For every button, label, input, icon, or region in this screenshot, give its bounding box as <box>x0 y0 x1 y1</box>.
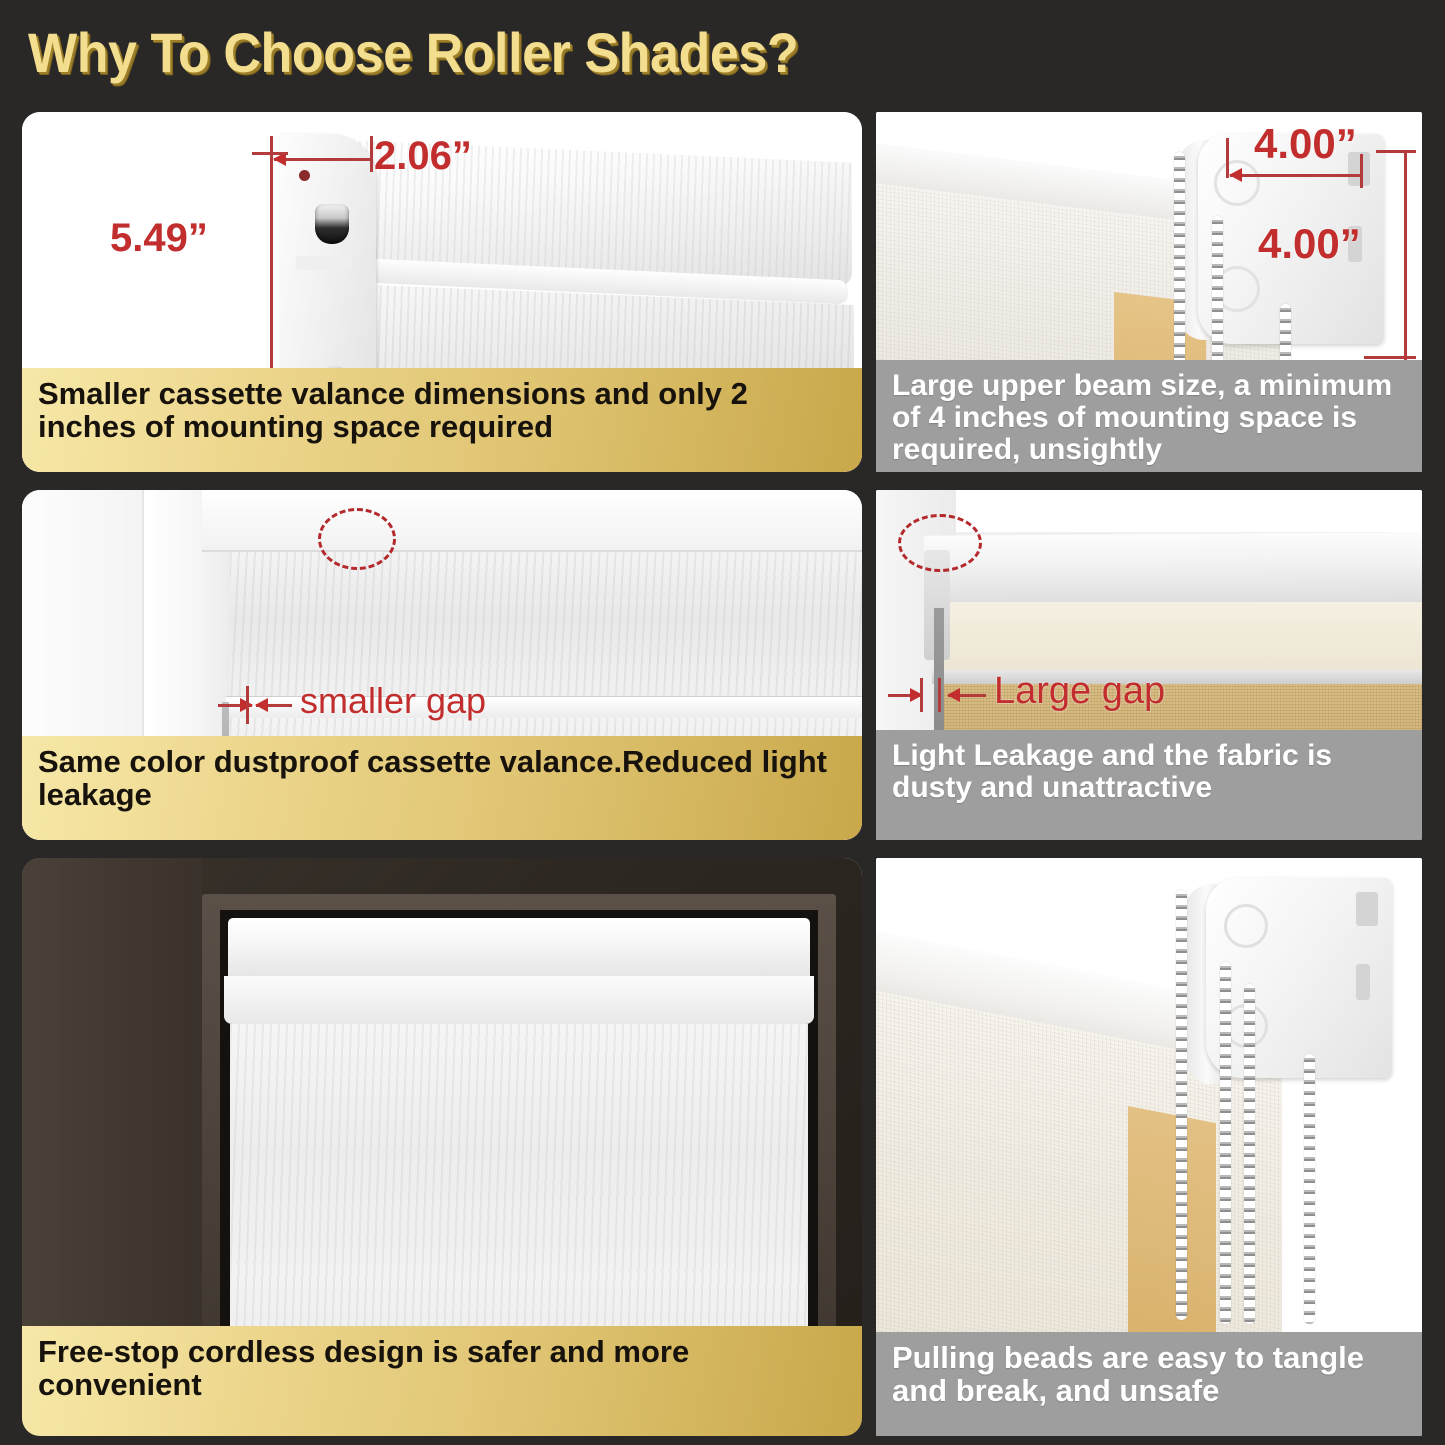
dim-cap-top <box>252 152 288 155</box>
dim-line-width <box>274 158 370 161</box>
roller-tube <box>924 532 1422 609</box>
gap-mark <box>246 686 249 724</box>
dim-tick-right <box>370 136 373 172</box>
gap-arrow-right <box>948 694 986 697</box>
dimension-label-width: 2.06” <box>374 134 472 179</box>
dim-line-width <box>1230 174 1362 177</box>
bead-chain-right <box>1304 1054 1315 1324</box>
panel-caption: Pulling beads are easy to tangle and bre… <box>876 1332 1422 1436</box>
dimension-label-height: 4.00” <box>1258 220 1361 268</box>
dim-tick-right <box>1360 154 1363 188</box>
panel-dustproof-cassette-valance[interactable]: smaller gap Same color dustproof cassett… <box>22 490 862 840</box>
dim-line-height <box>1404 152 1407 360</box>
gap-arrow-left <box>888 694 922 697</box>
gap-mark-left <box>920 678 923 712</box>
panel-light-leakage-dusty-fabric[interactable]: Large gap Light Leakage and the fabric i… <box>876 490 1422 840</box>
valance-chain-slot <box>315 204 349 244</box>
bead-chain-mid <box>1220 962 1231 1324</box>
bead-chain-mid <box>1212 216 1223 384</box>
panel-smaller-cassette-valance[interactable]: 2.06” 5.49” Smaller cassette valance dim… <box>22 112 862 472</box>
gap-mark-right <box>938 678 941 712</box>
valance-measure-dot <box>299 170 310 181</box>
dim-cap-bottom <box>1364 356 1416 359</box>
highlight-circle-icon <box>898 514 982 572</box>
panel-free-stop-cordless[interactable]: Free-stop cordless design is safer and m… <box>22 858 862 1436</box>
gap-callout-label: Large gap <box>994 670 1165 713</box>
dimension-label-height: 5.49” <box>110 216 208 261</box>
mounting-bracket <box>1206 878 1392 1078</box>
panel-caption: Large upper beam size, a minimum of 4 in… <box>876 360 1422 472</box>
panel-caption: Light Leakage and the fabric is dusty an… <box>876 730 1422 840</box>
panel-pulling-beads-unsafe[interactable]: Pulling beads are easy to tangle and bre… <box>876 858 1422 1436</box>
dimension-label-width: 4.00” <box>1254 120 1357 168</box>
cream-fabric-band <box>936 602 1422 672</box>
valance-fabric-upper <box>230 552 862 698</box>
page-title: Why To Choose Roller Shades? <box>28 22 798 84</box>
bead-chain-mid2 <box>1244 984 1255 1324</box>
bead-chain-left <box>1176 890 1187 1320</box>
dim-cap-top <box>1376 150 1416 153</box>
panel-large-upper-beam[interactable]: 4.00” 4.00” Large upper beam size, a min… <box>876 112 1422 472</box>
panel-caption: Free-stop cordless design is safer and m… <box>22 1326 862 1436</box>
window-head-casing <box>202 490 862 552</box>
highlight-circle-icon <box>318 508 396 570</box>
cassette-valance-front <box>224 976 814 1024</box>
panel-caption: Same color dustproof cassette valance.Re… <box>22 736 862 840</box>
panel-caption: Smaller cassette valance dimensions and … <box>22 368 862 472</box>
bead-chain-left <box>1174 152 1185 382</box>
gap-arrow-right <box>256 704 292 707</box>
cassette-valance-top <box>228 918 810 976</box>
gap-callout-label: smaller gap <box>300 680 486 722</box>
